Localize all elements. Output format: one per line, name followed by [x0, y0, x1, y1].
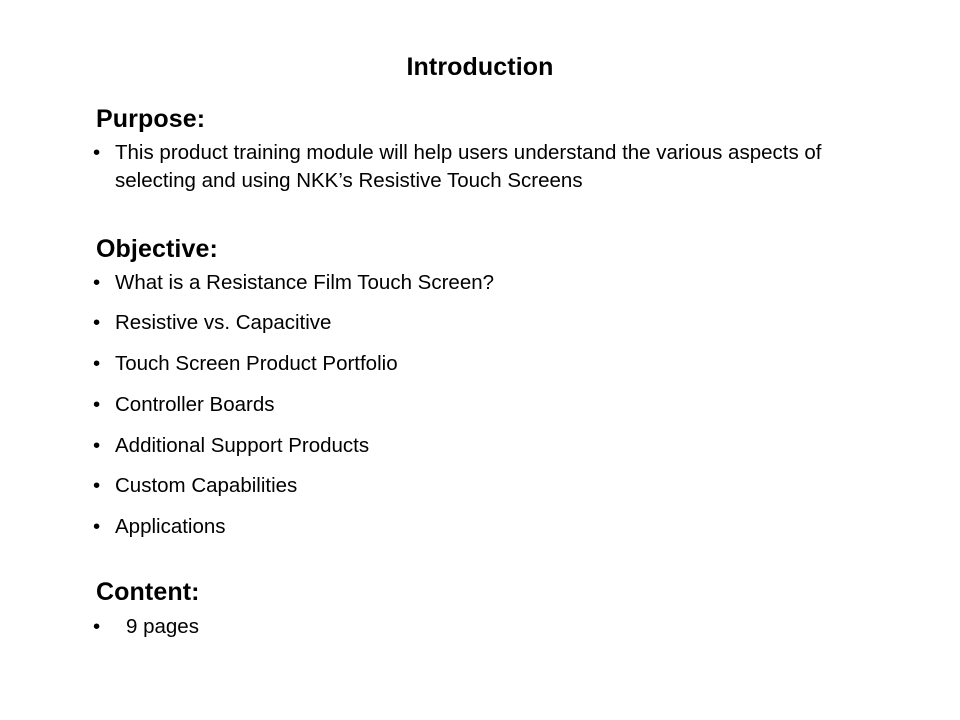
bullet-icon: • [93, 350, 115, 377]
list-item: • Touch Screen Product Portfolio [93, 350, 883, 377]
section-objective: Objective: • What is a Resistance Film T… [93, 234, 883, 541]
section-heading-purpose: Purpose: [96, 104, 883, 135]
section-content: Content: • 9 pages [93, 577, 883, 640]
list-item-label: 9 pages [126, 613, 883, 640]
bullet-icon: • [93, 432, 115, 459]
section-heading-content: Content: [96, 577, 883, 608]
list-item: • 9 pages [93, 613, 883, 640]
list-item-label: Controller Boards [115, 391, 883, 418]
section-heading-objective: Objective: [96, 234, 883, 265]
slide: Introduction Purpose: • This product tra… [0, 0, 960, 720]
bullet-icon: • [93, 513, 115, 540]
bullet-icon: • [93, 391, 115, 418]
list-item-label: Custom Capabilities [115, 472, 883, 499]
bullet-icon: • [93, 613, 126, 640]
bullet-icon: • [93, 139, 115, 166]
list-item-label: Resistive vs. Capacitive [115, 309, 883, 336]
bullet-icon: • [93, 309, 115, 336]
bullet-icon: • [93, 472, 115, 499]
purpose-list: • This product training module will help… [93, 139, 883, 196]
list-item: • Controller Boards [93, 391, 883, 418]
list-item: • Applications [93, 513, 883, 540]
list-item: • Resistive vs. Capacitive [93, 309, 883, 336]
list-item-label: What is a Resistance Film Touch Screen? [115, 269, 883, 296]
list-item: • Additional Support Products [93, 432, 883, 459]
bullet-icon: • [93, 269, 115, 296]
list-item: • This product training module will help… [93, 139, 883, 196]
list-item-label: Applications [115, 513, 883, 540]
list-item-label: This product training module will help u… [115, 139, 845, 196]
page-title: Introduction [0, 52, 960, 82]
objective-list: • What is a Resistance Film Touch Screen… [93, 269, 883, 541]
list-item-label: Additional Support Products [115, 432, 883, 459]
list-item-label: Touch Screen Product Portfolio [115, 350, 883, 377]
list-item: • Custom Capabilities [93, 472, 883, 499]
list-item: • What is a Resistance Film Touch Screen… [93, 269, 883, 296]
section-purpose: Purpose: • This product training module … [93, 104, 883, 196]
slide-body: Purpose: • This product training module … [93, 104, 883, 641]
content-list: • 9 pages [93, 613, 883, 640]
